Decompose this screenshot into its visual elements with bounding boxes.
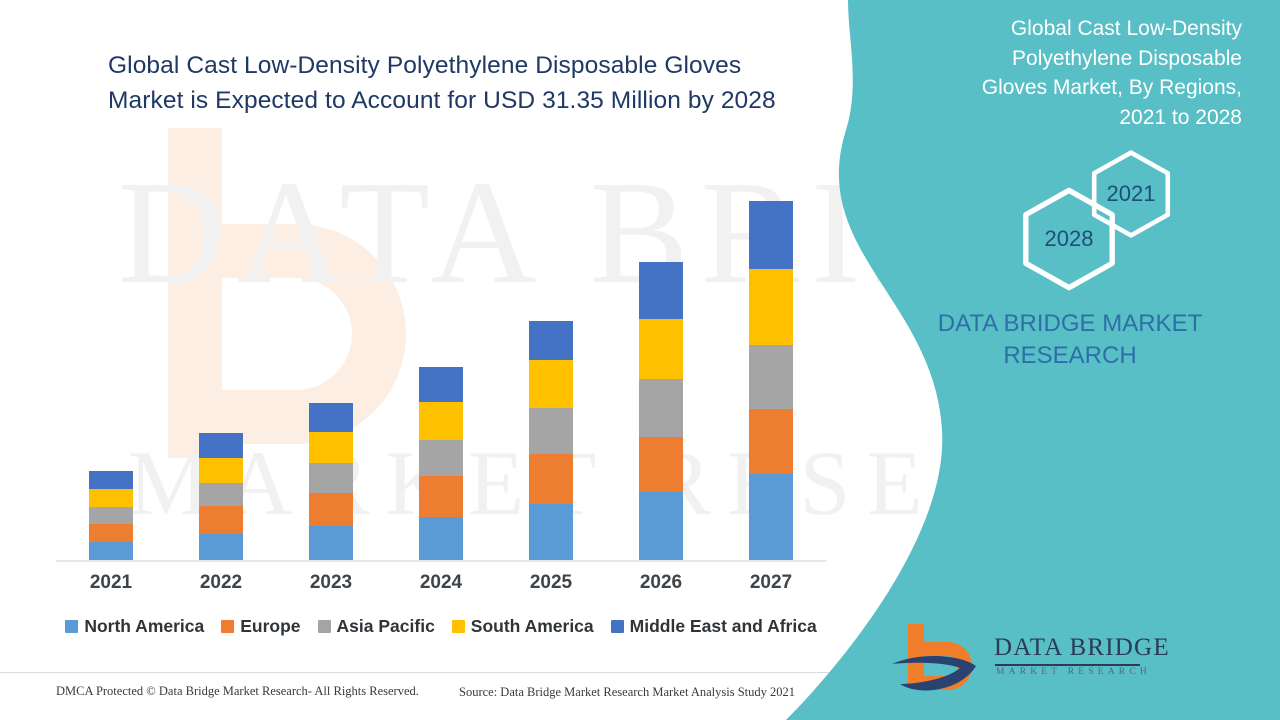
bar-segment (89, 524, 133, 543)
bar-segment (639, 379, 683, 437)
bar-slot (386, 150, 496, 560)
source-text: Source: Data Bridge Market Research Mark… (459, 685, 795, 700)
x-axis-label: 2025 (496, 572, 606, 594)
legend-swatch-icon (221, 620, 234, 633)
bar-segment (419, 402, 463, 440)
stacked-bar-2023 (309, 403, 353, 560)
panel-content: Global Cast Low-Density Polyethylene Dis… (860, 0, 1280, 720)
legend-label: Middle East and Africa (630, 616, 817, 637)
bar-segment (749, 409, 793, 474)
legend-label: North America (84, 616, 204, 637)
page-title: Global Cast Low-Density Polyethylene Dis… (108, 48, 808, 118)
db-mark-icon (890, 618, 990, 694)
stacked-bar-2021 (89, 471, 133, 560)
logo-wordmark: DATA BRIDGE (994, 634, 1170, 662)
bar-slot (166, 150, 276, 560)
bar-segment (89, 507, 133, 524)
x-axis-label: 2021 (56, 572, 166, 594)
legend-swatch-icon (318, 620, 331, 633)
bar-segment (529, 408, 573, 454)
legend-label: South America (471, 616, 594, 637)
hexagon-badge-2021-label: 2021 (1107, 181, 1156, 207)
chart-legend: North AmericaEuropeAsia PacificSouth Ame… (56, 616, 826, 637)
footer-divider (0, 672, 860, 673)
legend-item-europe[interactable]: Europe (221, 616, 300, 637)
bar-segment (529, 321, 573, 360)
bar-segment (309, 403, 353, 432)
bar-segment (639, 319, 683, 380)
bar-segment (419, 440, 463, 476)
bar-segment (89, 542, 133, 560)
x-axis-label: 2027 (716, 572, 826, 594)
bar-segment (199, 433, 243, 457)
bar-segment (309, 432, 353, 463)
x-axis-labels: 2021202220232024202520262027 (56, 572, 826, 594)
hexagon-badge-2028-label: 2028 (1045, 226, 1094, 252)
bar-slot (276, 150, 386, 560)
bar-segment (419, 517, 463, 560)
bar-segment (419, 476, 463, 517)
bar-slot (716, 150, 826, 560)
bar-segment (529, 360, 573, 408)
legend-swatch-icon (611, 620, 624, 633)
legend-item-asia-pacific[interactable]: Asia Pacific (318, 616, 435, 637)
x-axis-label: 2022 (166, 572, 276, 594)
bar-segment (89, 471, 133, 489)
legend-label: Asia Pacific (337, 616, 435, 637)
bar-segment (309, 526, 353, 560)
bar-segment (199, 458, 243, 483)
brand-name: DATA BRIDGE MARKET RESEARCH (900, 308, 1240, 372)
bar-segment (639, 492, 683, 560)
legend-item-middle-east-and-africa[interactable]: Middle East and Africa (611, 616, 817, 637)
infographic-canvas: DATA BRIDGE MARKET RESEARCH Global Cast … (0, 0, 1280, 720)
legend-swatch-icon (65, 620, 78, 633)
data-bridge-logo: DATA BRIDGE MARKET RESEARCH (890, 618, 1150, 698)
x-axis-label: 2023 (276, 572, 386, 594)
bar-segment (639, 437, 683, 492)
bar-segment (749, 201, 793, 269)
bar-segment (639, 262, 683, 319)
x-axis-label: 2024 (386, 572, 496, 594)
stacked-bar-2027 (749, 201, 793, 560)
legend-label: Europe (240, 616, 300, 637)
stacked-bar-2022 (199, 433, 243, 560)
legend-item-south-america[interactable]: South America (452, 616, 594, 637)
bar-segment (749, 269, 793, 345)
bar-segment (309, 463, 353, 492)
bar-segment (309, 493, 353, 526)
bar-slot (496, 150, 606, 560)
bar-segment (89, 489, 133, 508)
stacked-bar-2026 (639, 262, 683, 560)
x-axis-label: 2026 (606, 572, 716, 594)
legend-swatch-icon (452, 620, 465, 633)
bar-segment (749, 474, 793, 560)
logo-divider (995, 664, 1140, 666)
panel-title: Global Cast Low-Density Polyethylene Dis… (942, 14, 1242, 132)
x-axis-line (56, 560, 826, 562)
bar-slot (606, 150, 716, 560)
bar-slot (56, 150, 166, 560)
stacked-bar-2024 (419, 367, 463, 560)
copyright-text: DMCA Protected © Data Bridge Market Rese… (56, 684, 419, 699)
stacked-bar-2025 (529, 321, 573, 560)
bar-segment (749, 345, 793, 408)
bar-segment (419, 367, 463, 402)
bar-segment (529, 504, 573, 560)
bar-segment (199, 506, 243, 533)
bar-group (56, 150, 826, 560)
stacked-bar-chart (56, 150, 826, 562)
bar-segment (199, 534, 243, 560)
logo-subtitle: MARKET RESEARCH (996, 667, 1151, 677)
legend-item-north-america[interactable]: North America (65, 616, 204, 637)
bar-segment (529, 454, 573, 505)
bar-segment (199, 483, 243, 506)
